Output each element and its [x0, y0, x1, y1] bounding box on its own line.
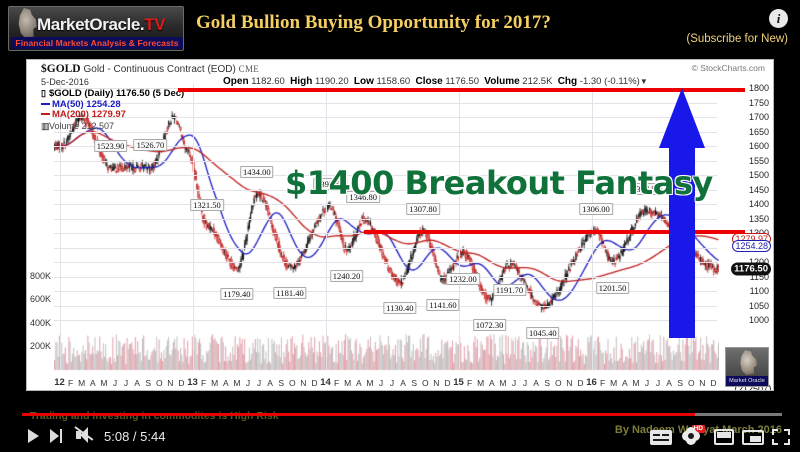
x-axis-tick: M	[100, 378, 107, 388]
y-axis-tick: 1750	[749, 98, 769, 108]
volume-axis-tick: 800K	[30, 271, 51, 281]
chart-annotation: 1307.80	[406, 203, 440, 215]
ma50-price-label: 1254.28	[732, 240, 771, 252]
last-price-label: 1176.50	[731, 262, 771, 275]
chart-annotation: 1306.00	[579, 203, 613, 215]
x-axis-tick: J	[379, 378, 383, 388]
theater-mode-icon[interactable]	[714, 429, 734, 445]
x-axis-tick: D	[710, 378, 716, 388]
x-axis-tick: M	[211, 378, 218, 388]
volume-axis-tick: 600K	[30, 294, 51, 304]
x-axis-tick: M	[233, 378, 240, 388]
x-axis-tick: S	[544, 378, 550, 388]
chart-annotation: 1232.00	[446, 273, 480, 285]
chart-credit: © StockCharts.com	[692, 63, 765, 73]
x-axis-tick: D	[577, 378, 583, 388]
x-axis-tick: J	[512, 378, 516, 388]
x-axis-tick: N	[167, 378, 173, 388]
x-axis-tick: D	[444, 378, 450, 388]
gridline-v	[459, 84, 460, 370]
volume-axis-tick: 400K	[30, 318, 51, 328]
x-axis-tick: A	[489, 378, 495, 388]
x-axis-tick: A	[622, 378, 628, 388]
legend-volume: ▥Volume 212,507	[41, 121, 184, 132]
info-icon[interactable]: i	[769, 9, 788, 28]
stockcharts-chart: $GOLD Gold - Continuous Contract (EOD) C…	[26, 59, 774, 391]
x-axis-tick: O	[688, 378, 695, 388]
x-axis-tick: D	[311, 378, 317, 388]
logo-thinker-icon	[13, 8, 39, 38]
y-axis-tick: 1500	[749, 170, 769, 180]
x-axis-tick: S	[411, 378, 417, 388]
x-axis-tick: A	[90, 378, 96, 388]
time-display: 5:08 / 5:44	[104, 429, 165, 444]
gridline-h	[54, 262, 717, 263]
logo-tagline: Financial Markets Analysis & Forecasts	[11, 37, 183, 49]
x-axis-tick: S	[145, 378, 151, 388]
x-axis-tick: 12	[54, 377, 65, 388]
x-axis-tick: J	[656, 378, 660, 388]
chart-annotation: 1434.00	[240, 166, 274, 178]
x-axis-tick: J	[390, 378, 394, 388]
x-axis-tick: N	[699, 378, 705, 388]
y-axis-tick: 1450	[749, 185, 769, 195]
y-axis-tick: 1000	[749, 315, 769, 325]
x-axis-tick: M	[610, 378, 617, 388]
chart-annotation: 1045.40	[526, 327, 560, 339]
x-axis-tick: F	[201, 378, 206, 388]
y-axis-tick: 1100	[750, 286, 769, 296]
volume-bars-icon: ▥	[41, 121, 49, 132]
x-axis-tick: J	[257, 378, 261, 388]
gridline-v	[592, 84, 593, 370]
x-axis-tick: J	[645, 378, 649, 388]
gridline-h	[54, 161, 717, 162]
y-axis-tick: 1650	[749, 127, 769, 137]
chart-annotation: 1201.50	[596, 282, 630, 294]
chart-exchange: CME	[239, 64, 259, 74]
x-axis-tick: O	[156, 378, 163, 388]
x-axis-tick: F	[600, 378, 605, 388]
chart-annotation: 1526.70	[134, 139, 168, 151]
y-axis-tick: 1050	[749, 301, 769, 311]
x-axis-tick: 15	[453, 377, 464, 388]
gridline-h	[54, 320, 717, 321]
candle-icon: ▯	[41, 88, 49, 99]
x-axis-tick: A	[666, 378, 672, 388]
next-video-button[interactable]	[50, 428, 65, 444]
chart-symbol: $GOLD	[41, 63, 81, 75]
x-axis-tick: M	[344, 378, 351, 388]
chart-instrument-name: Gold - Continuous Contract (EOD)	[84, 64, 236, 75]
y-axis-tick: 1400	[749, 199, 769, 209]
x-axis-tick: M	[366, 378, 373, 388]
x-axis-tick: F	[334, 378, 339, 388]
gridline-h	[54, 132, 717, 133]
video-progress-fill	[22, 413, 695, 416]
chart-annotation: 1240.20	[330, 270, 364, 282]
page-title: Gold Bullion Buying Opportunity for 2017…	[196, 12, 551, 34]
x-axis-tick: F	[467, 378, 472, 388]
chart-annotation: 1130.40	[383, 302, 416, 314]
chart-symbol-header: $GOLD Gold - Continuous Contract (EOD) C…	[41, 63, 259, 75]
x-axis-tick: J	[246, 378, 250, 388]
y-axis-tick: 1350	[749, 214, 769, 224]
y-axis-tick: 1600	[749, 141, 769, 151]
x-axis-tick: A	[400, 378, 406, 388]
x-axis-tick: 14	[320, 377, 331, 388]
gridline-h	[54, 248, 717, 249]
video-controls: 5:08 / 5:44 HD	[0, 418, 800, 452]
market-oracle-watermark: Market Oracle	[725, 347, 769, 387]
x-axis-tick: A	[223, 378, 229, 388]
gridline-v	[193, 84, 194, 370]
video-header: MarketOracle.TV Financial Markets Analys…	[0, 0, 800, 58]
logo-wordmark: MarketOracle.TV	[37, 15, 165, 35]
x-axis-tick: M	[78, 378, 85, 388]
chart-legend: ▯$GOLD (Daily) 1176.50 (5 Dec) MA(50) 12…	[41, 88, 184, 131]
x-axis-tick: J	[124, 378, 128, 388]
x-axis-tick: M	[477, 378, 484, 388]
bullish-arrow-icon	[659, 88, 705, 338]
legend-ma200: MA(200) 1279.97	[41, 110, 184, 121]
fullscreen-icon[interactable]	[772, 429, 790, 445]
marketoracle-logo[interactable]: MarketOracle.TV Financial Markets Analys…	[8, 6, 184, 51]
miniplayer-icon[interactable]	[742, 430, 764, 445]
chart-annotation: 1523.90	[94, 140, 128, 152]
chart-annotation: 1141.60	[426, 299, 459, 311]
volume-axis-tick: 200K	[30, 341, 51, 351]
x-axis-tick: O	[422, 378, 429, 388]
x-axis-tick: 16	[586, 377, 597, 388]
y-axis-tick: 1550	[749, 156, 769, 166]
chart-annotation: 1179.40	[220, 288, 253, 300]
chart-annotation: 1181.40	[273, 287, 306, 299]
chart-annotation: 1321.50	[190, 199, 224, 211]
chart-annotation: 1191.70	[493, 284, 526, 296]
x-axis-tick: A	[356, 378, 362, 388]
settings-gear-icon[interactable]	[682, 427, 700, 445]
y-axis-tick: 1700	[749, 112, 769, 122]
x-axis-tick: M	[632, 378, 639, 388]
mute-icon[interactable]	[76, 427, 96, 444]
x-axis-tick: S	[278, 378, 284, 388]
x-axis-tick: D	[178, 378, 184, 388]
gridline-h	[54, 277, 717, 278]
ma200-swatch	[41, 113, 50, 115]
x-axis-tick: 13	[187, 377, 198, 388]
overlay-headline: $1400 Breakout Fantasy	[285, 164, 713, 202]
y-axis-tick: 1800	[749, 83, 769, 93]
x-axis-tick: S	[677, 378, 683, 388]
x-axis-tick: A	[267, 378, 273, 388]
x-axis-tick: O	[555, 378, 562, 388]
x-axis-tick: N	[300, 378, 306, 388]
captions-icon[interactable]	[650, 430, 672, 445]
x-axis-tick: F	[68, 378, 73, 388]
x-axis-tick: J	[523, 378, 527, 388]
x-axis-tick: O	[289, 378, 296, 388]
subscribe-link[interactable]: (Subscribe for New)	[686, 33, 788, 45]
x-axis-tick: A	[134, 378, 140, 388]
x-axis-tick: A	[533, 378, 539, 388]
watermark-thinker-icon	[735, 350, 759, 375]
x-axis-tick: N	[566, 378, 572, 388]
gridline-h	[54, 219, 717, 220]
x-axis-tick: N	[433, 378, 439, 388]
ma50-swatch	[41, 103, 50, 105]
gridline-h	[54, 204, 717, 205]
logo-tv-suffix: TV	[144, 15, 165, 34]
x-axis-tick: J	[113, 378, 117, 388]
video-progress-bar[interactable]	[22, 413, 782, 416]
chart-annotation: 1072.30	[473, 319, 507, 331]
watermark-label: Market Oracle	[726, 376, 768, 386]
gridline-v	[326, 84, 327, 370]
video-player[interactable]: MarketOracle.TV Financial Markets Analys…	[0, 0, 800, 452]
play-button[interactable]	[26, 428, 42, 444]
x-axis-tick: M	[499, 378, 506, 388]
